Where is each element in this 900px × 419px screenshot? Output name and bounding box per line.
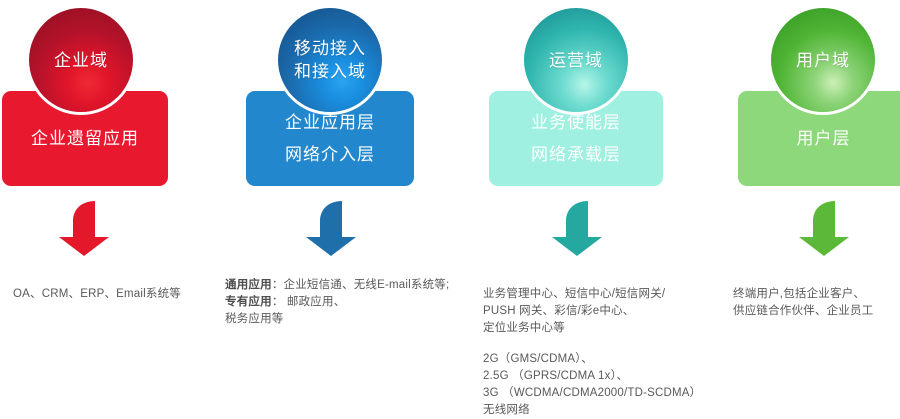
diagram-canvas: 企业遗留应用 企业域 OA、CRM、ERP、Email系统等 企业应用层 网络介…: [0, 0, 900, 404]
caption-block: 终端用户,包括企业客户、 供应链合作伙伴、企业员工: [733, 286, 900, 320]
circle-user: 用户域: [771, 8, 875, 112]
caption-block: 2G（GMS/CDMA）、 2.5G （GPRS/CDMA 1x）、 3G （W…: [483, 351, 723, 419]
caption-line: 供应链合作伙伴、企业员工: [733, 303, 900, 320]
caption-line: 无线网络: [483, 402, 723, 419]
caption-text: 供应链合作伙伴、企业员工: [733, 305, 873, 317]
caption-block: OA、CRM、ERP、Email系统等: [13, 286, 228, 303]
caption-text: 终端用户,包括企业客户、: [733, 288, 865, 300]
circle-operation: 运营域: [524, 8, 628, 112]
caption-line: 2G（GMS/CDMA）、: [483, 351, 723, 368]
column-mobile-access: 企业应用层 网络介入层 移动接入 和接入域 通用应用：企业短信通、无线E-mai…: [230, 0, 470, 404]
caption-text: ：企业短信通、无线E-mail系统等;: [272, 279, 450, 291]
circle-enterprise: 企业域: [29, 8, 133, 112]
caption-line: OA、CRM、ERP、Email系统等: [13, 286, 228, 303]
caption-text: 定位业务中心等: [483, 322, 565, 334]
caption-line: 业务管理中心、短信中心/短信网关/: [483, 286, 723, 303]
box-operation-line-1: 网络承载层: [531, 139, 621, 171]
circle-mobile-access: 移动接入 和接入域: [278, 8, 382, 112]
caption-text: OA、CRM、ERP、Email系统等: [13, 288, 181, 300]
box-mobile-access-line-1: 网络介入层: [285, 139, 375, 171]
box-user-line-0: 用户层: [797, 124, 851, 154]
caption-text: 2.5G （GPRS/CDMA 1x）、: [483, 370, 628, 382]
arrow-down-green: [795, 199, 853, 257]
caption-text: ： 邮政应用、: [272, 296, 346, 308]
column-user: 用户层 用户域 终端用户,包括企业客户、 供应链合作伙伴、企业员工: [720, 0, 900, 404]
caption-line: PUSH 网关、彩信/彩e中心、: [483, 303, 723, 320]
column-enterprise: 企业遗留应用 企业域 OA、CRM、ERP、Email系统等: [0, 0, 230, 404]
caption-text: 3G （WCDMA/CDMA2000/TD-SCDMA）: [483, 387, 701, 399]
caption-line: 定位业务中心等: [483, 320, 723, 337]
caption-line: 3G （WCDMA/CDMA2000/TD-SCDMA）: [483, 385, 723, 402]
circle-mobile-access-line-1: 和接入域: [294, 60, 366, 83]
caption-line: 2.5G （GPRS/CDMA 1x）、: [483, 368, 723, 385]
caption-text: 2G（GMS/CDMA）、: [483, 353, 593, 365]
arrow-down-red: [55, 199, 113, 257]
column-operation: 业务使能层 网络承载层 运营域 业务管理中心、短信中心/短信网关/ PUSH 网…: [470, 0, 720, 404]
caption-label: 通用应用: [225, 279, 272, 291]
circle-mobile-access-line-0: 移动接入: [294, 37, 366, 60]
caption-text: PUSH 网关、彩信/彩e中心、: [483, 305, 634, 317]
caption-user: 终端用户,包括企业客户、 供应链合作伙伴、企业员工: [733, 286, 900, 320]
arrow-down-teal: [548, 199, 606, 257]
caption-text: 无线网络: [483, 404, 530, 416]
caption-operation: 业务管理中心、短信中心/短信网关/ PUSH 网关、彩信/彩e中心、 定位业务中…: [483, 286, 723, 419]
caption-block: 业务管理中心、短信中心/短信网关/ PUSH 网关、彩信/彩e中心、 定位业务中…: [483, 286, 723, 337]
caption-text: 税务应用等: [225, 313, 284, 325]
box-enterprise-line-0: 企业遗留应用: [31, 124, 139, 154]
circle-enterprise-line-0: 企业域: [54, 49, 108, 72]
arrow-down-blue: [302, 199, 360, 257]
circle-operation-line-0: 运营域: [549, 49, 603, 72]
circle-user-line-0: 用户域: [796, 49, 850, 72]
caption-line: 终端用户,包括企业客户、: [733, 286, 900, 303]
caption-enterprise: OA、CRM、ERP、Email系统等: [13, 286, 228, 303]
caption-text: 业务管理中心、短信中心/短信网关/: [483, 288, 665, 300]
caption-label: 专有应用: [225, 296, 272, 308]
